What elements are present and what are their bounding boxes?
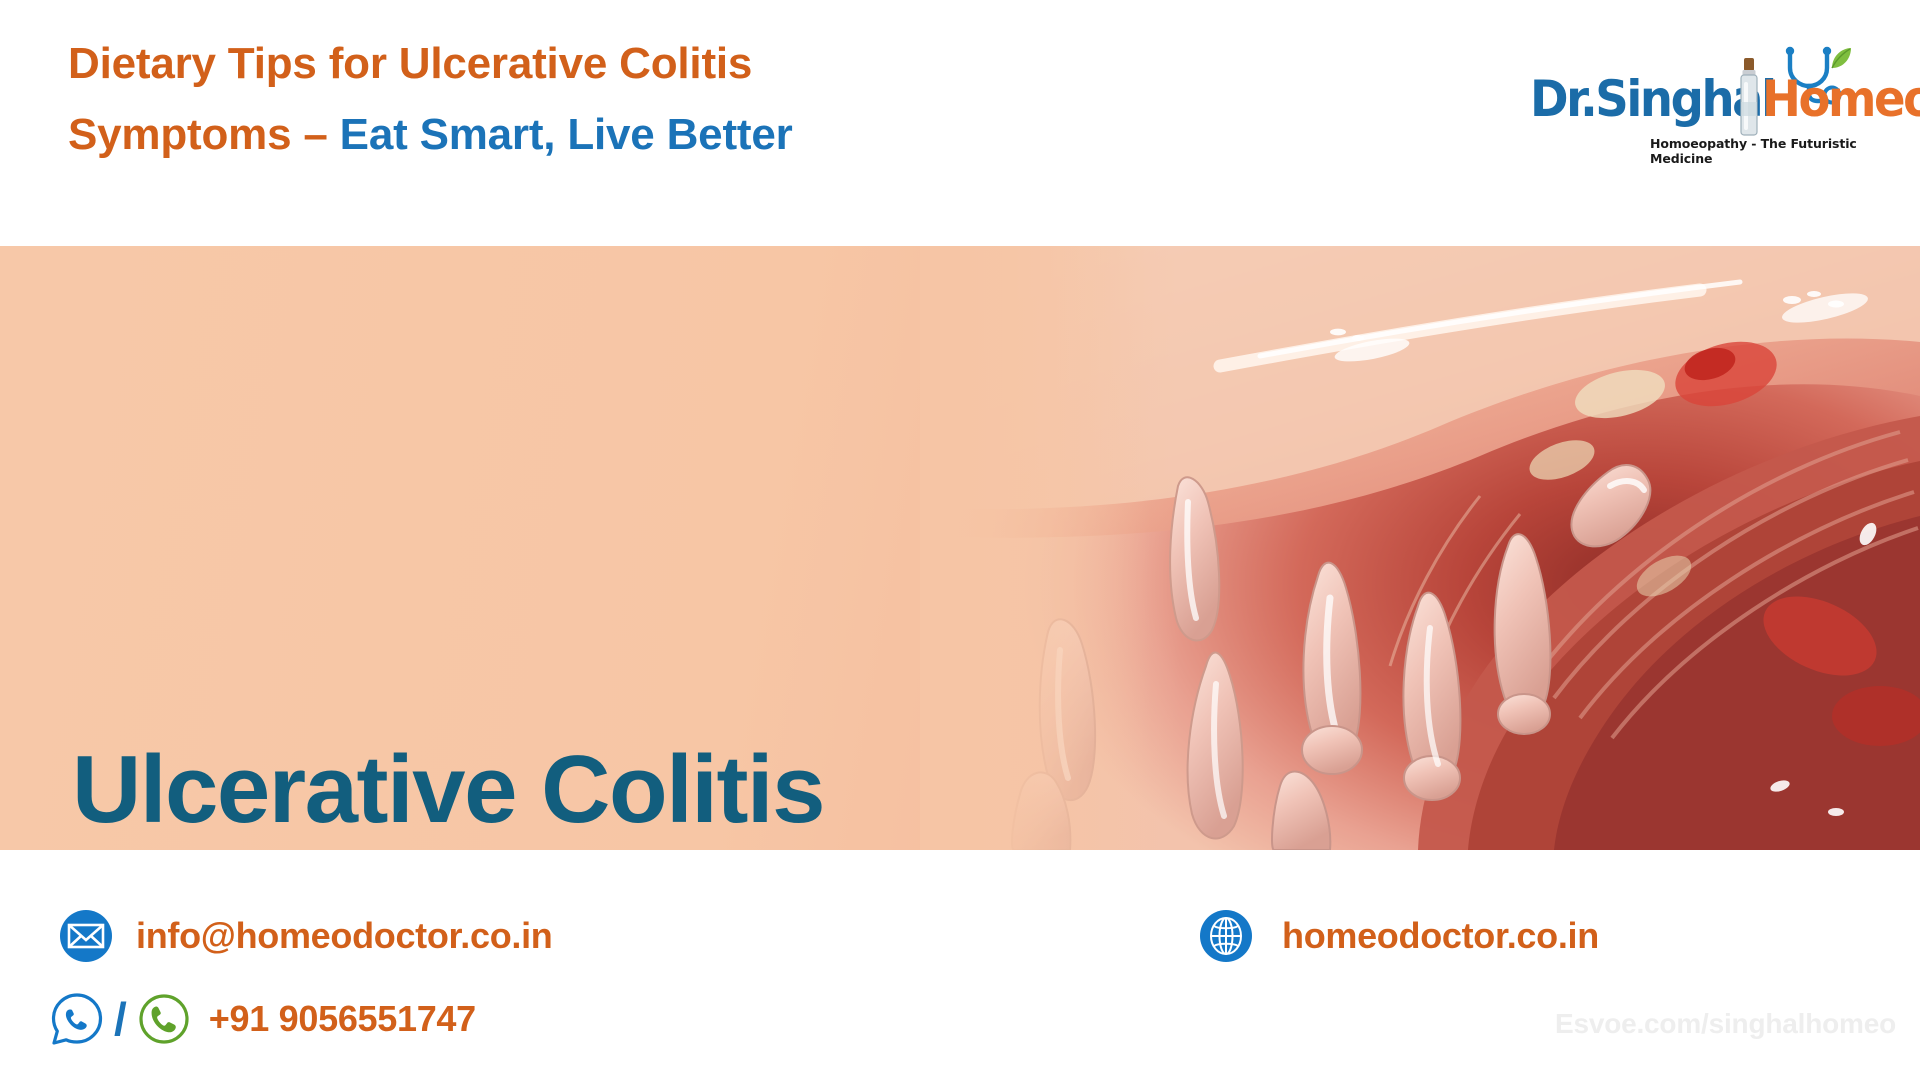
hero-title: Ulcerative Colitis bbox=[72, 742, 824, 838]
email-text: info@homeodoctor.co.in bbox=[136, 915, 553, 957]
header: Dietary Tips for Ulcerative Colitis Symp… bbox=[0, 0, 1920, 246]
globe-icon bbox=[1198, 908, 1254, 964]
logo-wordmark: Dr.Singhal Homeo bbox=[1530, 62, 1890, 136]
brand-logo[interactable]: Dr.Singhal Homeo bbox=[1530, 62, 1890, 170]
medicine-bottle-icon bbox=[1736, 58, 1762, 138]
headline-line2-orange: Symptoms – bbox=[68, 110, 340, 159]
website-text: homeodoctor.co.in bbox=[1282, 915, 1599, 957]
whatsapp-icon bbox=[48, 990, 106, 1048]
hero-banner: Ulcerative Colitis bbox=[0, 246, 1920, 850]
phone-call-icon bbox=[137, 992, 191, 1046]
envelope-icon bbox=[58, 908, 114, 964]
contact-footer: info@homeodoctor.co.in / +91 9056551747 bbox=[0, 850, 1920, 1080]
image-fade-overlay bbox=[920, 246, 1150, 850]
contact-website[interactable]: homeodoctor.co.in bbox=[1198, 908, 1599, 964]
page-title: Dietary Tips for Ulcerative Colitis Symp… bbox=[68, 28, 1168, 171]
logo-tagline: Homoeopathy - The Futuristic Medicine bbox=[1650, 136, 1890, 166]
contact-phone[interactable]: / +91 9056551747 bbox=[48, 990, 476, 1048]
headline-line2-blue: Eat Smart, Live Better bbox=[340, 110, 793, 159]
colon-endoscopy-image bbox=[920, 246, 1920, 850]
logo-word-orange: Homeo bbox=[1762, 70, 1920, 128]
poster-root: Dietary Tips for Ulcerative Colitis Symp… bbox=[0, 0, 1920, 1080]
contact-email[interactable]: info@homeodoctor.co.in bbox=[58, 908, 553, 964]
phone-text: +91 9056551747 bbox=[209, 998, 476, 1040]
separator-slash: / bbox=[114, 996, 127, 1042]
headline-line1: Dietary Tips for Ulcerative Colitis bbox=[68, 39, 752, 88]
watermark: Esvoe.com/singhalhomeo bbox=[1555, 1008, 1896, 1040]
